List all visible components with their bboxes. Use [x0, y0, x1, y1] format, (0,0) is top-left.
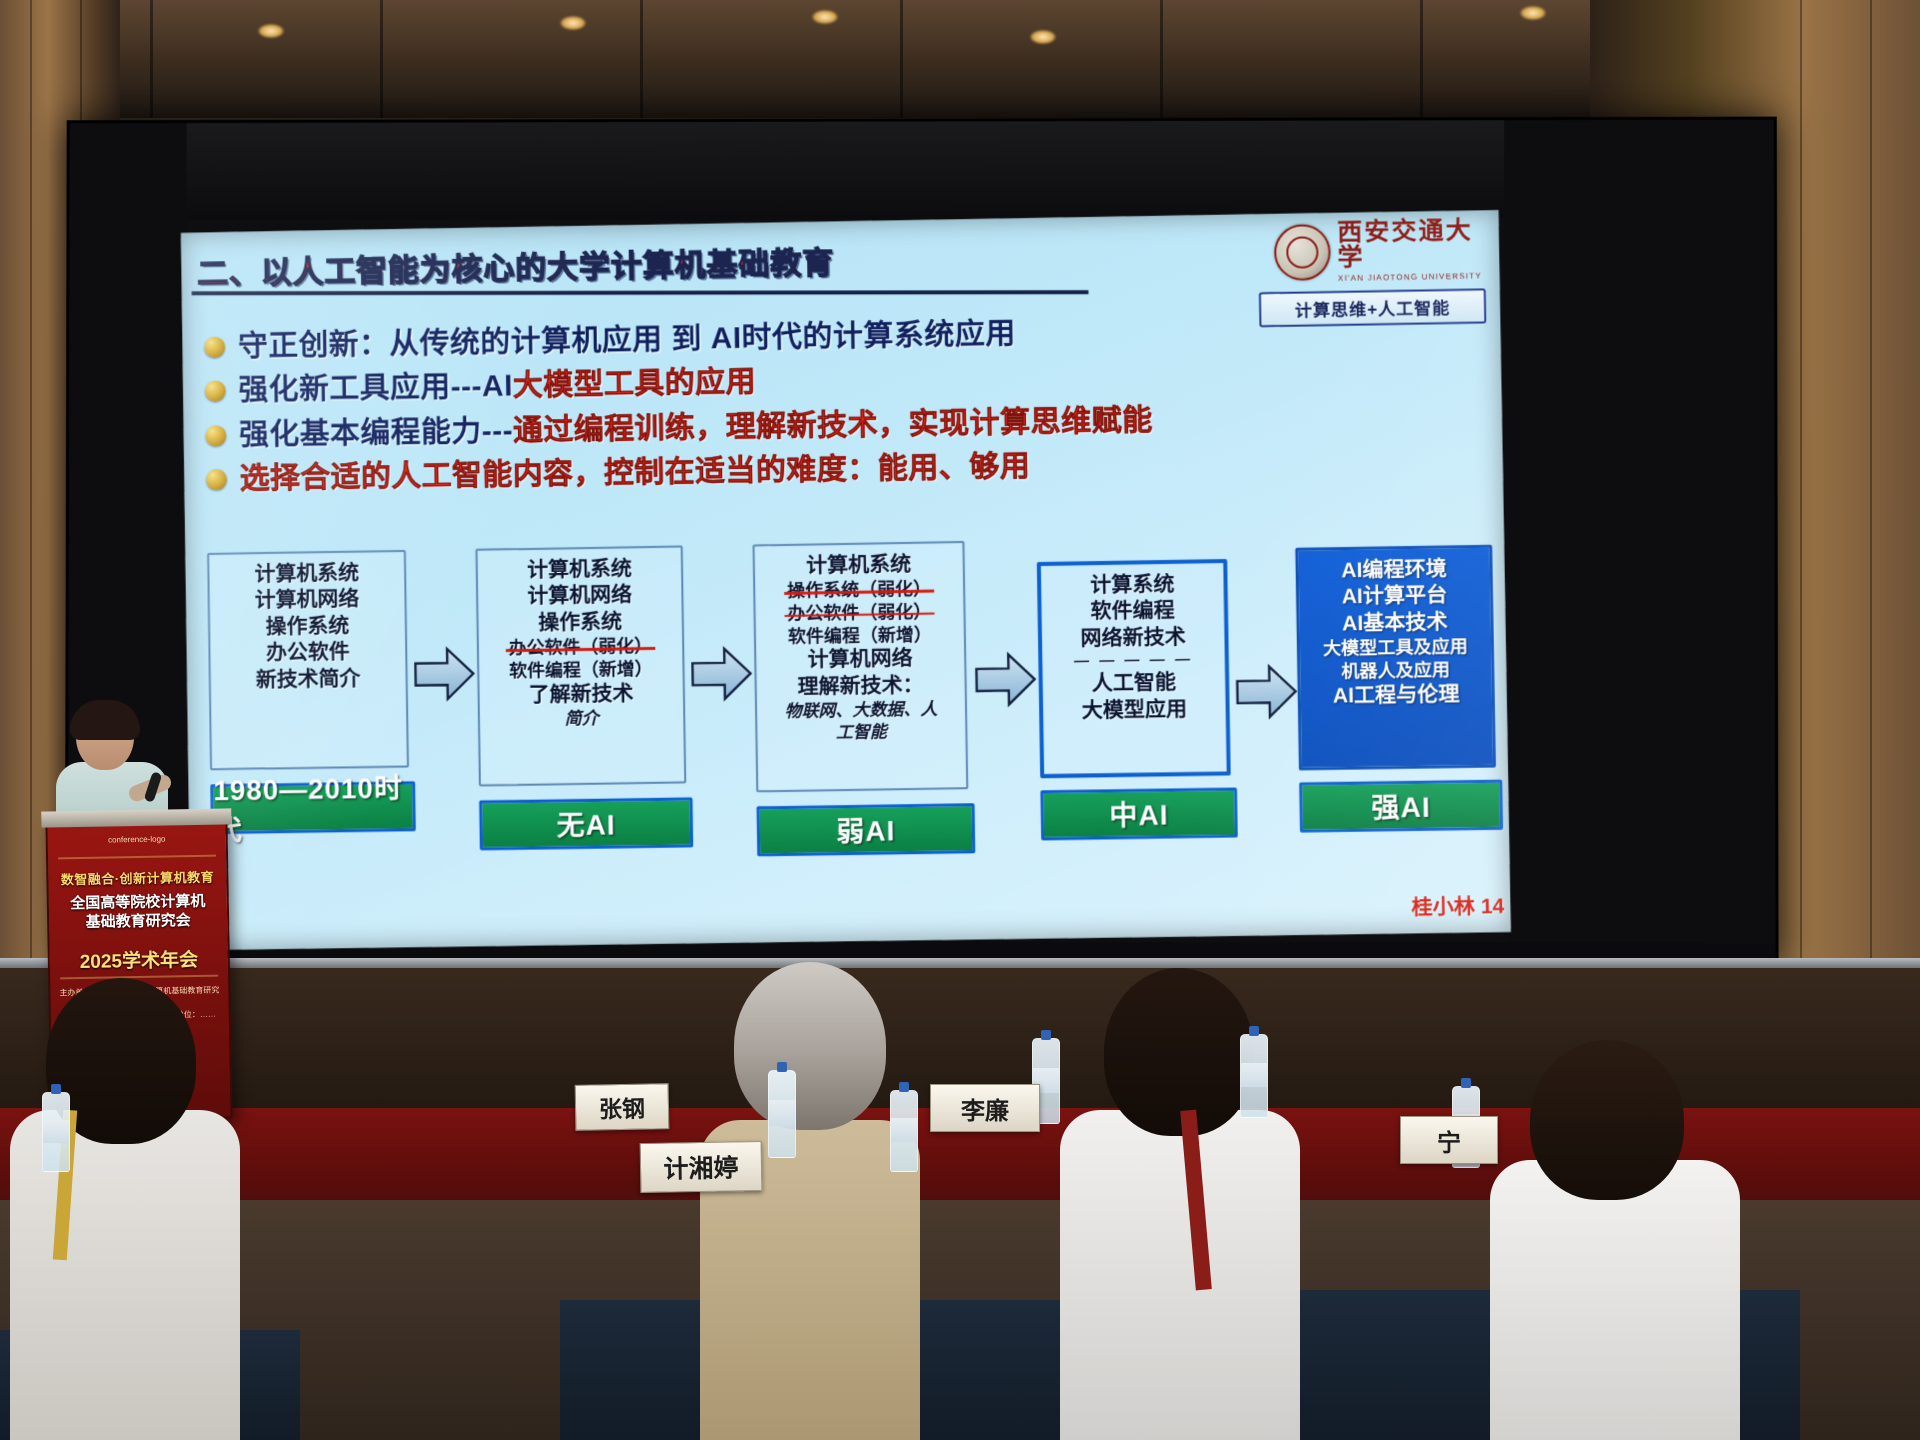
nameplate: 计湘婷 [640, 1141, 763, 1193]
bullet-list: 守正创新：从传统的计算机应用 到 AI时代的计算系统应用 强化新工具应用---A… [192, 308, 1493, 507]
flow-item: 软件编程（新增） [509, 658, 653, 683]
flow-divider: — — — — — [1074, 651, 1193, 672]
attendee [10, 978, 240, 1440]
bullet-text-red: 选择合适的人工智能内容，控制在适当的难度：能用、够用 [240, 450, 1031, 496]
flow-item: 大模型工具及应用 [1323, 636, 1468, 661]
water-bottle [890, 1090, 918, 1172]
flow-item: 计算机网络 [527, 583, 632, 611]
era-tag: 无AI [479, 797, 693, 850]
flow-column: 计算机系统 计算机网络 操作系统 办公软件（弱化） 软件编程（新增） 了解新技术… [475, 546, 686, 787]
bullet-text-dark: 强化新工具应用---AI [238, 370, 513, 407]
water-bottle [1240, 1034, 1268, 1118]
flow-column: 计算机系统 计算机网络 操作系统 办公软件 新技术简介 1980—2010时代 [207, 550, 409, 770]
nameplate-label: 计湘婷 [663, 1148, 739, 1185]
flow-item: 大模型应用 [1082, 697, 1188, 725]
attendee [1490, 1040, 1740, 1440]
water-bottle [768, 1070, 796, 1158]
flow-item: 操作系统 [266, 613, 350, 641]
era-tag-label: 强AI [1371, 786, 1431, 827]
flow-item: 简介 [564, 708, 598, 730]
logo-chinese-name: 西安交通大学 [1337, 218, 1485, 271]
flow-column: 计算机系统 操作系统（弱化） 办公软件（弱化） 软件编程（新增） 计算机网络 理… [753, 541, 969, 792]
ceiling-light [1030, 30, 1056, 44]
bullet-dot-icon [206, 469, 227, 490]
presentation-slide: 二、以人工智能为核心的大学计算机基础教育 西安交通大学 XI'AN JIAOTO… [181, 210, 1511, 950]
university-logo: 西安交通大学 XI'AN JIAOTONG UNIVERSITY [1274, 218, 1486, 284]
era-tag-label: 中AI [1109, 793, 1169, 834]
flow-box: AI编程环境 AI计算平台 AI基本技术 大模型工具及应用 机器人及应用 AI工… [1295, 545, 1496, 771]
nameplate: 李廉 [930, 1084, 1040, 1132]
flow-item: 工智能 [836, 721, 887, 743]
flow-item: 理解新技术： [797, 673, 923, 701]
attendee [700, 962, 920, 1440]
podium-organization: 全国高等院校计算机 基础教育研究会 [49, 892, 228, 933]
logo-english-name: XI'AN JIAOTONG UNIVERSITY [1338, 272, 1486, 283]
nameplate-label: 李廉 [961, 1091, 1009, 1126]
bullet-dot-icon [205, 381, 226, 402]
flow-column: 计算系统 软件编程 网络新技术 — — — — — 人工智能 大模型应用 中AI [1037, 559, 1231, 778]
flow-item: 人工智能 [1092, 670, 1177, 698]
flow-item: 计算机网络 [255, 587, 360, 615]
title-underline [192, 290, 1089, 295]
flow-item-strikethrough: 办公软件（弱化） [509, 635, 653, 660]
flow-item: 计算机系统 [254, 561, 359, 589]
flow-arrow [974, 650, 1037, 709]
era-tag: 强AI [1299, 780, 1503, 833]
flow-item: 新技术简介 [256, 666, 361, 694]
podium-org-logo: conference-logo [48, 832, 226, 847]
ceiling-light [812, 10, 838, 24]
flow-column: AI编程环境 AI计算平台 AI基本技术 大模型工具及应用 机器人及应用 AI工… [1295, 545, 1496, 771]
bullet-dot-icon [204, 337, 225, 358]
flow-arrow [690, 644, 753, 703]
podium-event-name: 2025学术年会 [50, 944, 228, 974]
flow-item: 软件编程（新增） [788, 623, 932, 648]
flow-item: 办公软件 [266, 640, 350, 668]
bullet-text-dark: 守正创新：从传统的计算机应用 到 AI时代的计算系统应用 [238, 317, 1016, 363]
podium-slogan: 数智融合·创新计算机教育 [48, 866, 226, 888]
flow-box: 计算机系统 计算机网络 操作系统 办公软件（弱化） 软件编程（新增） 了解新技术… [475, 546, 686, 787]
flow-item: AI计算平台 [1342, 583, 1448, 611]
flow-item: AI工程与伦理 [1333, 681, 1460, 709]
ceiling-light [258, 24, 284, 38]
flow-item: 机器人及应用 [1341, 659, 1450, 683]
flow-item: 计算机系统 [527, 556, 632, 584]
flow-item: 物联网、大数据、人 [784, 699, 937, 723]
flow-item: 软件编程 [1090, 598, 1175, 626]
bullet-dot-icon [205, 425, 226, 446]
slide-author-page: 桂小林 14 [1411, 890, 1504, 921]
university-seal-icon [1274, 224, 1331, 281]
era-tag-label: 无AI [556, 803, 615, 844]
ceiling-light [1520, 6, 1546, 20]
bullet-text-red: 大模型工具的应用 [513, 366, 757, 403]
flow-item: 计算机系统 [806, 552, 911, 580]
flow-item: 网络新技术 [1080, 625, 1186, 653]
flow-item: AI编程环境 [1341, 557, 1447, 585]
stage-edge [0, 958, 1920, 968]
nameplate-label: 张钢 [599, 1090, 646, 1125]
flow-item: 计算系统 [1090, 572, 1175, 600]
era-tag: 弱AI [757, 803, 976, 856]
led-presentation-screen: 二、以人工智能为核心的大学计算机基础教育 西安交通大学 XI'AN JIAOTO… [65, 117, 1779, 967]
flow-item-strikethrough: 操作系统（弱化） [787, 578, 931, 603]
ceiling-light [560, 16, 586, 30]
nameplate: 宁 [1400, 1116, 1498, 1164]
water-bottle [42, 1092, 70, 1172]
flow-box: 计算机系统 计算机网络 操作系统 办公软件 新技术简介 [207, 550, 409, 770]
era-tag: 1980—2010时代 [210, 781, 416, 834]
nameplate-label: 宁 [1437, 1123, 1461, 1158]
bullet-text-dark: 强化基本编程能力--- [239, 414, 513, 451]
era-tag-label: 1980—2010时代 [213, 766, 413, 849]
flow-item: 计算机网络 [808, 646, 913, 674]
flow-item: 了解新技术 [529, 681, 634, 709]
slide-title: 二、以人工智能为核心的大学计算机基础教育 [197, 237, 834, 293]
flow-item: 操作系统 [538, 609, 622, 637]
evolution-flow-diagram: 计算机系统 计算机网络 操作系统 办公软件 新技术简介 1980—2010时代 [191, 533, 1516, 935]
era-tag: 中AI [1040, 787, 1237, 840]
flow-box: 计算机系统 操作系统（弱化） 办公软件（弱化） 软件编程（新增） 计算机网络 理… [753, 541, 969, 792]
bullet-text-red: 通过编程训练，理解新技术，实现计算思维赋能 [513, 404, 1153, 447]
flow-item-strikethrough: 办公软件（弱化） [787, 601, 931, 626]
nameplate: 张钢 [575, 1083, 670, 1131]
era-tag-label: 弱AI [836, 809, 896, 850]
flow-arrow [413, 645, 476, 704]
flow-item: AI基本技术 [1342, 610, 1448, 638]
flow-box: 计算系统 软件编程 网络新技术 — — — — — 人工智能 大模型应用 [1037, 559, 1231, 778]
flow-arrow [1235, 662, 1298, 721]
